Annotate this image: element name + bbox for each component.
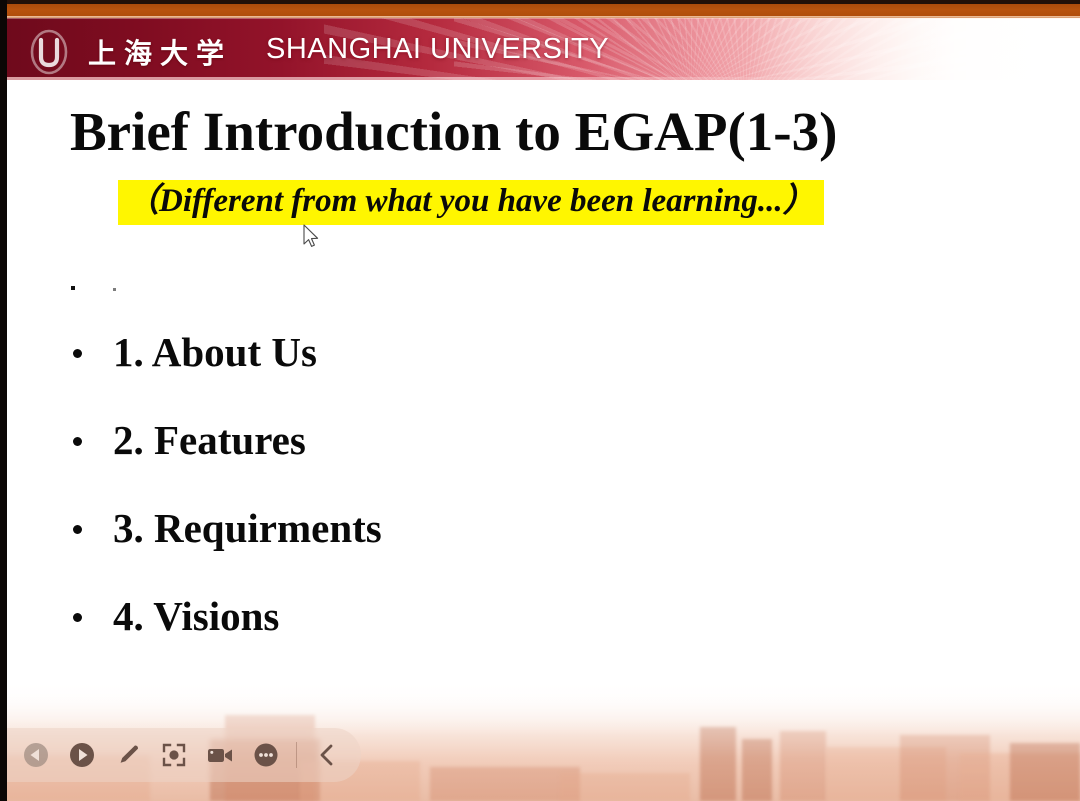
slide-content-area: Brief Introduction to EGAP(1-3) （Differe… [7,80,1080,720]
play-button[interactable] [60,733,104,777]
chevron-left-icon [316,743,338,767]
play-circle-icon [69,742,95,768]
bullet-dot-icon [73,525,82,534]
play-back-circle-icon [23,742,49,768]
bullet-label: 2. Features [113,417,306,463]
player-toolbar [4,728,361,782]
banner-fade-overlay [750,18,1080,80]
bullet-label: 1. About Us [113,329,317,375]
shanghai-university-emblem-icon [28,29,70,75]
slide-subtitle-container: （Different from what you have been learn… [118,180,824,225]
slide-bullet-list: 1. About Us 2. Features 3. Requirments 4… [65,308,1005,660]
frame-orange-highlight [0,16,1080,19]
list-item: 3. Requirments [65,484,1005,572]
university-banner: 上海大学 SHANGHAI UNIVERSITY [0,18,1080,80]
focus-capture-icon [161,742,187,768]
slide-title: Brief Introduction to EGAP(1-3) [70,104,1070,159]
frame-top-edge [0,0,1080,4]
bullet-dot-icon [73,613,82,622]
bullet-label: 3. Requirments [113,505,382,551]
pencil-icon [115,742,141,768]
empty-bullet-artifacts [65,280,185,298]
ellipsis-circle-icon [253,742,279,768]
list-item: 2. Features [65,396,1005,484]
frame-left-edge [0,0,7,801]
bullet-dot-icon [73,349,82,358]
list-item: 4. Visions [65,572,1005,660]
slide-viewport: 上海大学 SHANGHAI UNIVERSITY Brief Introduct… [0,0,1080,801]
more-button[interactable] [244,733,288,777]
bullet-dot-icon [73,437,82,446]
collapse-button[interactable] [305,733,349,777]
banner-chinese-title: 上海大学 [88,32,232,72]
list-item: 1. About Us [65,308,1005,396]
previous-button[interactable] [14,733,58,777]
slide-subtitle: （Different from what you have been learn… [118,180,824,225]
annotate-button[interactable] [106,733,150,777]
banner-bottom-highlight [0,77,1080,80]
campus-sky-gradient [0,676,1080,736]
toolbar-divider [296,742,297,768]
bullet-label: 4. Visions [113,593,279,639]
screenshot-button[interactable] [152,733,196,777]
banner-english-title: SHANGHAI UNIVERSITY [266,33,609,66]
record-button[interactable] [198,733,242,777]
video-camera-icon [206,742,234,768]
